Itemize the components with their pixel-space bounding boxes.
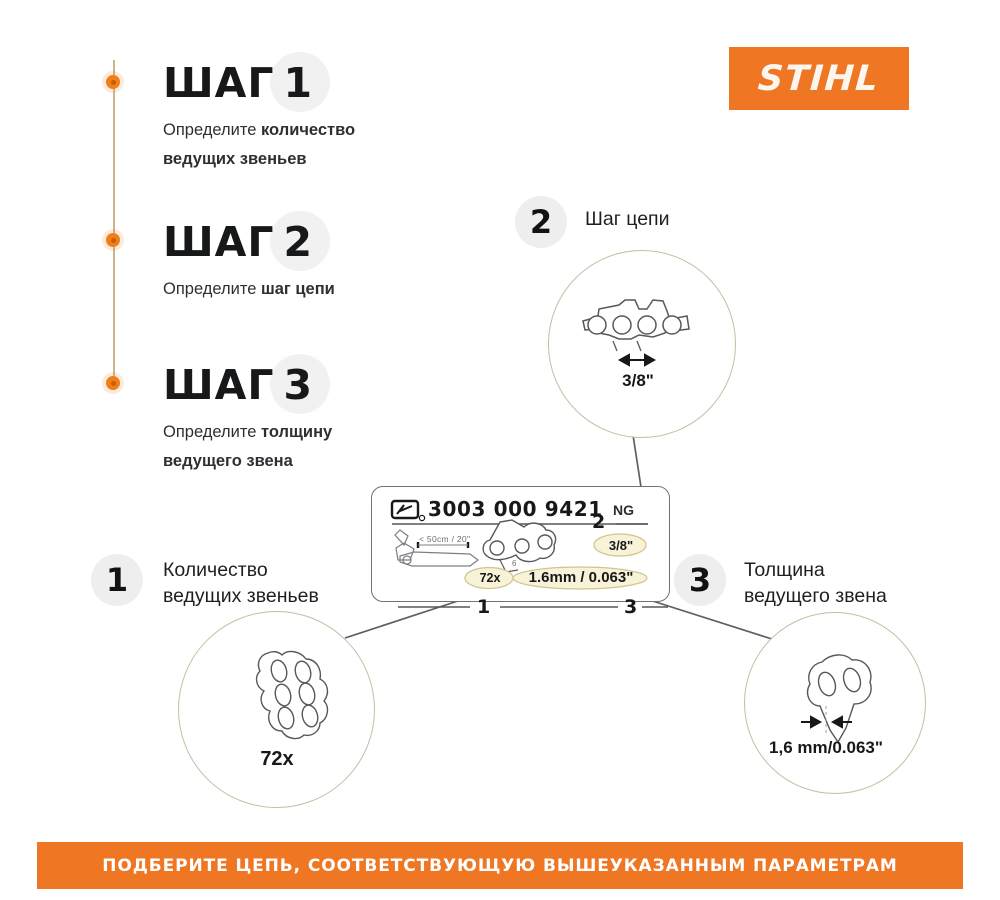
step-block-3: ШАГ3 Определите толщину ведущего звена — [163, 365, 332, 476]
plate-links-tag: 72x — [469, 571, 511, 585]
step-2-desc-bold: шаг цепи — [261, 280, 335, 298]
callout-circle-gauge — [744, 612, 926, 794]
step-3-title: ШАГ3 — [163, 365, 332, 406]
plate-bar-length: < 50cm / 20" — [419, 534, 470, 544]
step-1-description: Определите количество ведущих звеньев — [163, 116, 355, 174]
step-1-title-number: 1 — [284, 59, 314, 107]
plate-type-code: NG — [613, 502, 634, 518]
step-1-title-word: ШАГ — [163, 59, 275, 107]
step-2-title-word: ШАГ — [163, 218, 275, 266]
callout-1-value: 72x — [235, 748, 319, 771]
badge-3: 3 — [674, 554, 726, 606]
stihl-logo: STIHL — [729, 47, 909, 110]
callout-circle-pitch — [548, 250, 736, 438]
step-3-description: Определите толщину ведущего звена — [163, 418, 332, 476]
step-2-desc-plain: Определите — [163, 280, 261, 298]
step-1-desc-plain: Определите — [163, 121, 261, 139]
step-2-title-number: 2 — [284, 218, 314, 266]
plate-marker-3: 3 — [624, 596, 637, 618]
badge-1-number: 1 — [106, 561, 128, 599]
plate-marker-2: 2 — [592, 511, 605, 533]
step-1-desc-line2: ведущих звеньев — [163, 150, 307, 168]
step-block-2: ШАГ2 Определите шаг цепи — [163, 222, 335, 304]
callout-2-label: Шаг цепи — [585, 206, 670, 232]
callout-1-label-line1: Количество — [163, 559, 268, 581]
callout-2-value: 3/8" — [596, 371, 680, 391]
callout-1-label: Количество ведущих звеньев — [163, 557, 319, 610]
callout-3-value: 1,6 mm/0.063" — [750, 738, 902, 758]
step-3-title-word: ШАГ — [163, 361, 275, 409]
plate-pitch-tag: 3/8" — [600, 538, 642, 553]
badge-3-number: 3 — [689, 561, 711, 599]
infographic-canvas: ШАГ1 Определите количество ведущих звень… — [0, 0, 1000, 900]
callout-circle-links — [178, 611, 375, 808]
timeline-dot-step-1 — [106, 75, 120, 89]
timeline-line — [113, 60, 115, 390]
callout-1-label-line2: ведущих звеньев — [163, 585, 319, 607]
timeline-dot-step-2 — [106, 233, 120, 247]
callout-3-label: Толщина ведущего звена — [744, 557, 887, 610]
callout-2-label-line1: Шаг цепи — [585, 208, 670, 230]
connector-plate-to-links — [345, 597, 470, 638]
bottom-banner: ПОДБЕРИТЕ ЦЕПЬ, СООТВЕТСТВУЮЩУЮ ВЫШЕУКАЗ… — [37, 842, 963, 889]
bottom-banner-text: ПОДБЕРИТЕ ЦЕПЬ, СООТВЕТСТВУЮЩУЮ ВЫШЕУКАЗ… — [102, 856, 897, 876]
step-3-desc-line2: ведущего звена — [163, 452, 293, 470]
step-3-desc-bold: толщину — [261, 423, 332, 441]
step-1-desc-bold: количество — [261, 121, 355, 139]
timeline-dot-step-3 — [106, 376, 120, 390]
plate-part-number: 3003 000 9421 — [428, 497, 603, 521]
stihl-logo-text: STIHL — [757, 59, 881, 99]
callout-3-label-line1: Толщина — [744, 559, 825, 581]
plate-small-six: 6 — [512, 559, 516, 568]
badge-1: 1 — [91, 554, 143, 606]
plate-marker-1: 1 — [477, 596, 490, 618]
badge-2: 2 — [515, 196, 567, 248]
badge-2-number: 2 — [530, 203, 552, 241]
step-3-desc-plain: Определите — [163, 423, 261, 441]
step-3-title-number: 3 — [284, 361, 314, 409]
step-1-title: ШАГ1 — [163, 63, 355, 104]
step-block-1: ШАГ1 Определите количество ведущих звень… — [163, 63, 355, 174]
step-2-title: ШАГ2 — [163, 222, 335, 263]
callout-3-label-line2: ведущего звена — [744, 585, 887, 607]
plate-gauge-tag: 1.6mm / 0.063" — [520, 569, 642, 586]
step-2-description: Определите шаг цепи — [163, 275, 335, 304]
